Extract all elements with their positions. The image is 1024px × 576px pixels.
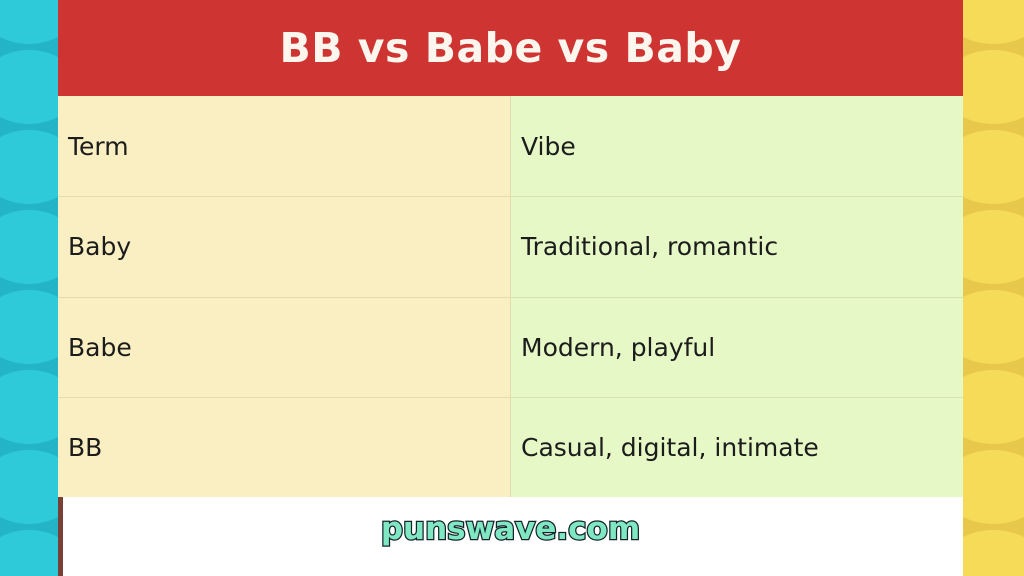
footer-area: punswave.com <box>58 497 963 576</box>
cell-term-babe: Babe <box>58 297 511 397</box>
comparison-table: Term Vibe Baby Traditional, romantic Bab… <box>58 96 963 497</box>
scallop-arc <box>0 530 58 576</box>
table-row: BB Casual, digital, intimate <box>58 397 963 497</box>
cell-vibe-baby: Traditional, romantic <box>511 196 963 296</box>
scallop-arc <box>963 130 1024 204</box>
content-board: BB vs Babe vs Baby Term Vibe Baby Tradit… <box>58 0 963 576</box>
scallop-arc <box>963 530 1024 576</box>
scallop-arc <box>963 290 1024 364</box>
column-header-term: Term <box>58 96 511 196</box>
scallop-arc <box>0 0 58 44</box>
cell-term-baby: Baby <box>58 196 511 296</box>
cell-vibe-bb: Casual, digital, intimate <box>511 397 963 497</box>
table-row: Babe Modern, playful <box>58 297 963 397</box>
scallop-arc <box>0 450 58 524</box>
table-header-row: Term Vibe <box>58 96 963 196</box>
page-title: BB vs Babe vs Baby <box>280 24 742 72</box>
infographic-canvas: BB vs Babe vs Baby Term Vibe Baby Tradit… <box>0 0 1024 576</box>
cell-term-bb: BB <box>58 397 511 497</box>
cell-vibe-babe: Modern, playful <box>511 297 963 397</box>
column-header-vibe: Vibe <box>511 96 963 196</box>
scallop-arc <box>963 0 1024 44</box>
scallop-arc <box>963 450 1024 524</box>
left-scallop-decoration <box>0 0 58 576</box>
scallop-arc <box>0 370 58 444</box>
scallop-arc <box>0 130 58 204</box>
scallop-arc <box>963 50 1024 124</box>
scallop-arc <box>0 210 58 284</box>
scallop-arc <box>963 370 1024 444</box>
scallop-arc <box>963 210 1024 284</box>
scallop-arc <box>0 50 58 124</box>
scallop-arc <box>0 290 58 364</box>
site-watermark: punswave.com <box>58 511 963 547</box>
right-scallop-decoration <box>963 0 1024 576</box>
title-banner: BB vs Babe vs Baby <box>58 0 963 96</box>
table-row: Baby Traditional, romantic <box>58 196 963 296</box>
